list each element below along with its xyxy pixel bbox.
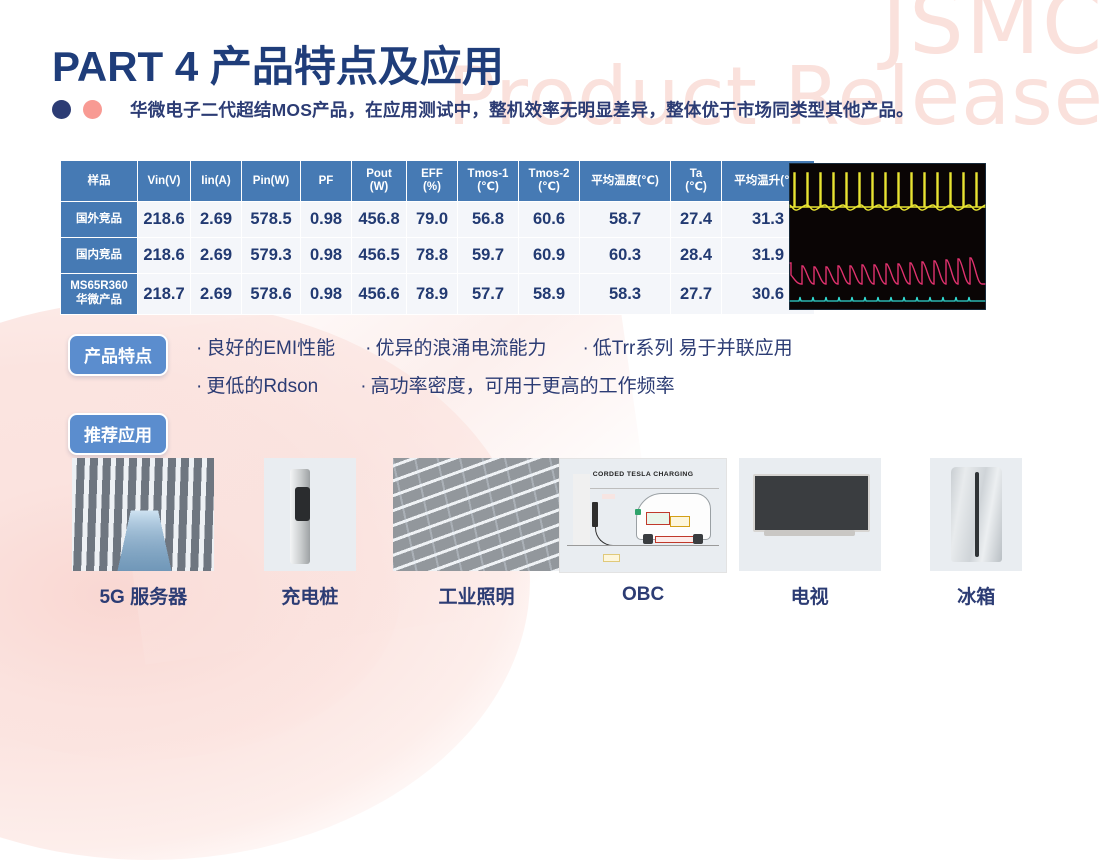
application-item-charging-pile: 充电桩	[227, 458, 394, 609]
obc-wall	[573, 474, 590, 545]
applications-badge: 推荐应用	[68, 413, 168, 455]
application-caption: 电视	[791, 582, 829, 609]
application-item-5g-server: 5G 服务器	[60, 458, 227, 609]
table-row-label: 国外竞品	[61, 202, 137, 237]
bullet-icon: ·	[196, 376, 202, 397]
obc-connector	[635, 509, 642, 516]
table-cell: 58.3	[580, 274, 670, 314]
table-header-cell: Tmos-2(℃)	[519, 161, 579, 201]
table-cell: 56.8	[458, 202, 518, 237]
table-header-cell: Tmos-1(℃)	[458, 161, 518, 201]
obc-diagram-image: CORDED TESLA CHARGING	[559, 458, 727, 573]
features-badge-wrapper: 产品特点	[68, 334, 168, 376]
obc-ground-line	[567, 545, 720, 546]
table-cell: 218.6	[138, 238, 190, 273]
applications-badge-wrapper: 推荐应用	[68, 413, 168, 455]
table-cell: 0.98	[301, 238, 351, 273]
application-caption: 冰箱	[957, 582, 995, 609]
table-row-label: MS65R360华微产品	[61, 274, 137, 314]
industrial-lighting-image	[393, 458, 559, 571]
feature-item: ·更低的Rdson	[196, 371, 318, 398]
table-cell: 456.8	[352, 202, 406, 237]
table-cell: 27.4	[671, 202, 721, 237]
table-cell: 2.69	[191, 202, 241, 237]
table-cell: 2.69	[191, 238, 241, 273]
bullet-icon: ·	[365, 338, 371, 359]
table-header-cell: PF	[301, 161, 351, 201]
table-cell: 57.7	[458, 274, 518, 314]
table-cell: 60.6	[519, 202, 579, 237]
obc-wheel-left	[643, 534, 653, 544]
waveform-svg	[789, 163, 986, 310]
application-caption: OBC	[622, 584, 664, 606]
table-header-cell: Pin(W)	[242, 161, 300, 201]
table-cell: 59.7	[458, 238, 518, 273]
obc-horizon-line	[573, 488, 719, 489]
table-cell: 60.3	[580, 238, 670, 273]
obc-bottom-label	[603, 554, 620, 562]
application-gallery: 5G 服务器 充电桩 工业照明 CORDED TESLA CHARGING OB…	[60, 458, 1060, 609]
table-row: 国外竞品218.62.69578.50.98456.879.056.860.65…	[61, 202, 814, 237]
feature-item: ·高功率密度，可用于更高的工作频率	[360, 371, 674, 398]
obc-charger-post	[592, 502, 599, 527]
feature-item: ·良好的EMI性能	[196, 333, 335, 360]
table-cell: 218.7	[138, 274, 190, 314]
television-image	[739, 458, 881, 571]
feature-item: ·低Trr系列 易于并联应用	[582, 333, 792, 360]
table-header-cell: Vin(V)	[138, 161, 190, 201]
table-header-cell: Iin(A)	[191, 161, 241, 201]
table-header-cell: Ta(℃)	[671, 161, 721, 201]
subtitle-text: 华微电子二代超结MOS产品，在应用测试中，整机效率无明显差异，整体优于市场同类型…	[130, 97, 914, 122]
obc-secondary-box	[670, 516, 690, 527]
table-header-cell: EFF(%)	[407, 161, 457, 201]
table-cell: 578.6	[242, 274, 300, 314]
table-header-cell: 平均温度(℃)	[580, 161, 670, 201]
table-cell: 579.3	[242, 238, 300, 273]
feature-row: ·更低的Rdson·高功率密度，可用于更高的工作频率	[196, 371, 793, 409]
table-row: MS65R360华微产品218.72.69578.60.98456.678.95…	[61, 274, 814, 314]
table-header-row: 样品Vin(V)Iin(A)Pin(W)PFPout(W)EFF(%)Tmos-…	[61, 161, 814, 201]
subtitle-row: 华微电子二代超结MOS产品，在应用测试中，整机效率无明显差异，整体优于市场同类型…	[52, 97, 914, 122]
table-cell: 79.0	[407, 202, 457, 237]
table-header-cell: Pout(W)	[352, 161, 406, 201]
table-cell: 2.69	[191, 274, 241, 314]
table-cell: 578.5	[242, 202, 300, 237]
table-row-label: 国内竞品	[61, 238, 137, 273]
application-item-tv: 电视	[726, 458, 893, 609]
application-caption: 5G 服务器	[99, 582, 187, 609]
table-cell: 218.6	[138, 202, 190, 237]
bullet-icon: ·	[360, 376, 366, 397]
application-caption: 充电桩	[281, 582, 338, 609]
feature-list: ·良好的EMI性能·优异的浪涌电流能力·低Trr系列 易于并联应用·更低的Rds…	[196, 333, 793, 409]
feature-row: ·良好的EMI性能·优异的浪涌电流能力·低Trr系列 易于并联应用	[196, 333, 793, 371]
application-item-industrial-lighting: 工业照明	[393, 458, 560, 609]
table-body: 国外竞品218.62.69578.50.98456.879.056.860.65…	[61, 202, 814, 314]
obc-cable	[595, 525, 639, 546]
table-cell: 0.98	[301, 274, 351, 314]
oscilloscope-waveform-image	[789, 163, 986, 310]
refrigerator-image	[930, 458, 1022, 571]
features-badge: 产品特点	[68, 334, 168, 376]
watermark-line-1: JSMC	[882, 0, 1100, 74]
table-cell: 0.98	[301, 202, 351, 237]
ev-charging-pile-image	[264, 458, 356, 571]
table-cell: 456.5	[352, 238, 406, 273]
bullet-icon: ·	[582, 338, 588, 359]
table-cell: 78.9	[407, 274, 457, 314]
measurement-table: 样品Vin(V)Iin(A)Pin(W)PFPout(W)EFF(%)Tmos-…	[60, 160, 815, 315]
table-cell: 58.9	[519, 274, 579, 314]
table-cell: 58.7	[580, 202, 670, 237]
table-cell: 28.4	[671, 238, 721, 273]
application-item-refrigerator: 冰箱	[893, 458, 1060, 609]
pink-dot-icon	[83, 100, 102, 119]
table-cell: 78.8	[407, 238, 457, 273]
obc-module-box	[646, 512, 670, 525]
page-title: PART 4 产品特点及应用	[52, 33, 504, 94]
obc-charger-label	[602, 494, 615, 499]
bullet-icon: ·	[196, 338, 202, 359]
table-cell: 456.6	[352, 274, 406, 314]
application-caption: 工业照明	[438, 582, 514, 609]
table-header-cell: 样品	[61, 161, 137, 201]
feature-item: ·优异的浪涌电流能力	[365, 333, 546, 360]
measurement-table-wrapper: 样品Vin(V)Iin(A)Pin(W)PFPout(W)EFF(%)Tmos-…	[60, 160, 815, 315]
navy-dot-icon	[52, 100, 71, 119]
application-item-obc: CORDED TESLA CHARGING OBC	[560, 458, 727, 609]
table-cell: 27.7	[671, 274, 721, 314]
obc-wheel-right	[693, 534, 703, 544]
table-row: 国内竞品218.62.69579.30.98456.578.859.760.96…	[61, 238, 814, 273]
table-cell: 60.9	[519, 238, 579, 273]
server-room-image	[72, 458, 214, 571]
